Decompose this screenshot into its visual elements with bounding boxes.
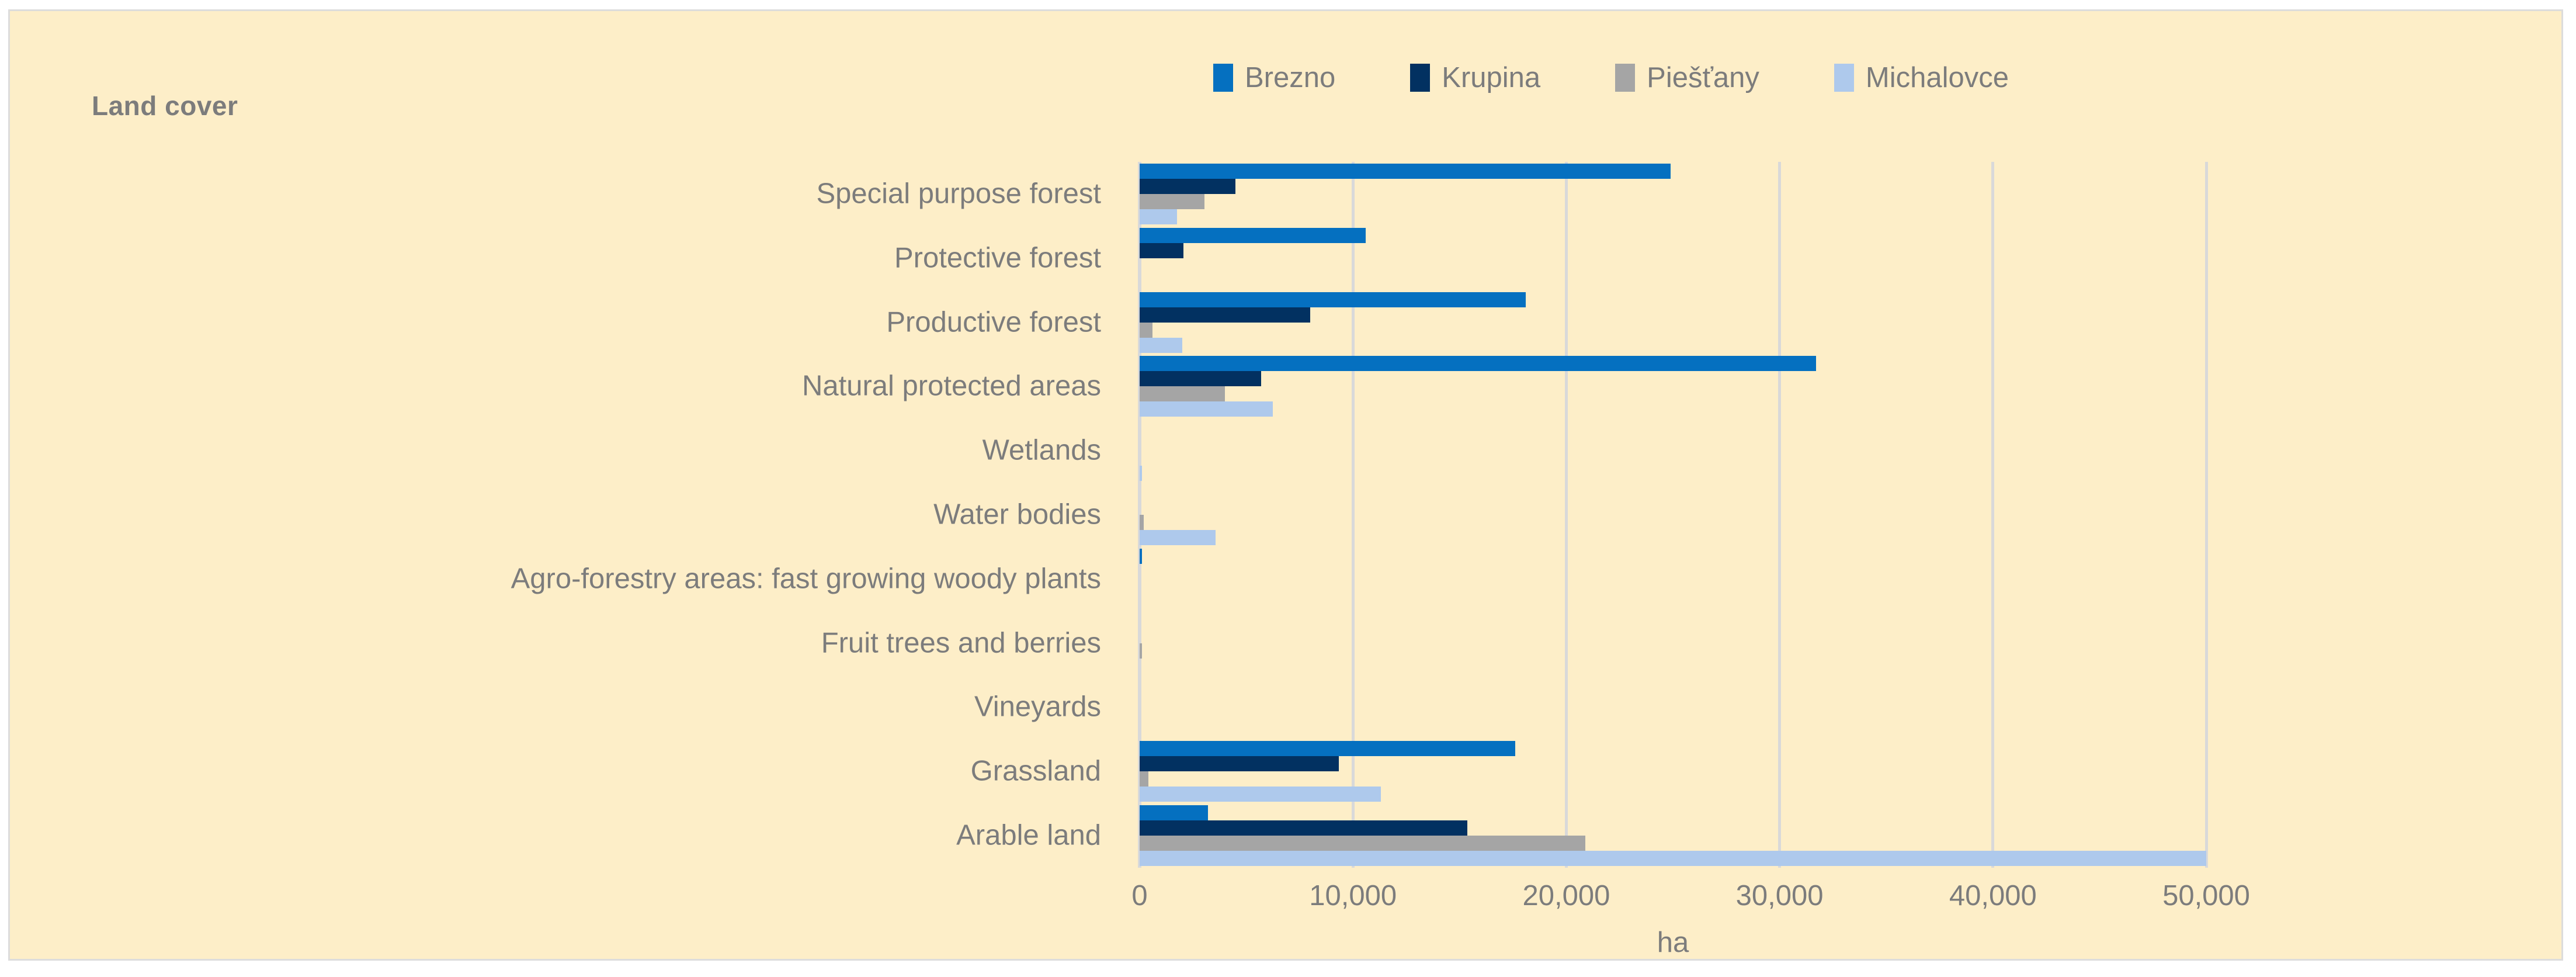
xtick-label-10000: 10,000 (1309, 882, 1397, 910)
bar-krupina-1[interactable] (1140, 243, 1183, 258)
bar-krupina-9[interactable] (1140, 756, 1339, 771)
xtick-label-40000: 40,000 (1949, 882, 2037, 910)
bar-group-5 (1140, 483, 2206, 547)
chart-title: Land cover (92, 90, 238, 122)
bar-krupina-0[interactable] (1140, 179, 1235, 194)
bar-group-3 (1140, 354, 2206, 418)
bar-group-7 (1140, 611, 2206, 675)
bar-michalovce-2[interactable] (1140, 338, 1182, 353)
bar-brezno-9[interactable] (1140, 741, 1515, 756)
bar-brezno-6[interactable] (1140, 549, 1142, 564)
category-label-4: Wetlands (983, 436, 1101, 465)
xtick-label-20000: 20,000 (1522, 882, 1610, 910)
legend-label-piešťany: Piešťany (1647, 64, 1759, 92)
value-axis-title: ha (1657, 929, 1689, 957)
bar-michalovce-4[interactable] (1140, 466, 1142, 481)
bar-group-8 (1140, 675, 2206, 740)
legend-label-krupina: Krupina (1442, 64, 1540, 92)
category-label-8: Vineyards (974, 693, 1101, 722)
legend-label-michalovce: Michalovce (1866, 64, 2009, 92)
bar-brezno-0[interactable] (1140, 164, 1671, 179)
bar-krupina-3[interactable] (1140, 371, 1261, 386)
bar-group-9 (1140, 739, 2206, 803)
bar-krupina-10[interactable] (1140, 820, 1467, 836)
value-axis-tick-labels: 010,00020,00030,00040,00050,000 (1140, 882, 2206, 917)
category-label-6: Agro-forestry areas: fast growing woody … (511, 564, 1101, 593)
category-label-7: Fruit trees and berries (821, 629, 1101, 657)
category-label-3: Natural protected areas (802, 372, 1101, 401)
legend-item-brezno[interactable]: Brezno (1213, 64, 1335, 92)
bar-piešťany-3[interactable] (1140, 386, 1225, 401)
category-label-5: Water bodies (933, 501, 1101, 529)
category-label-10: Arable land (956, 822, 1101, 850)
category-label-1: Protective forest (894, 244, 1101, 272)
bar-brezno-2[interactable] (1140, 292, 1526, 307)
bar-group-6 (1140, 547, 2206, 611)
legend-item-michalovce[interactable]: Michalovce (1834, 64, 2009, 92)
bar-brezno-1[interactable] (1140, 228, 1366, 243)
bar-group-2 (1140, 290, 2206, 355)
bar-piešťany-9[interactable] (1140, 771, 1148, 787)
bar-piešťany-2[interactable] (1140, 323, 1152, 338)
bar-piešťany-7[interactable] (1140, 643, 1142, 659)
legend-label-brezno: Brezno (1245, 64, 1335, 92)
legend-swatch-piestany (1615, 64, 1635, 92)
chart-frame: Land cover BreznoKrupinaPiešťanyMichalov… (8, 9, 2563, 961)
bar-piešťany-0[interactable] (1140, 194, 1204, 209)
bar-krupina-2[interactable] (1140, 307, 1310, 323)
legend-swatch-michalovce (1834, 64, 1854, 92)
xtick-label-30000: 30,000 (1736, 882, 1824, 910)
legend-item-piešťany[interactable]: Piešťany (1615, 64, 1759, 92)
bar-group-4 (1140, 418, 2206, 483)
bar-group-0 (1140, 162, 2206, 226)
legend-item-krupina[interactable]: Krupina (1410, 64, 1540, 92)
bar-group-1 (1140, 226, 2206, 290)
bar-group-10 (1140, 803, 2206, 868)
category-axis-labels: Special purpose forestProtective forestP… (127, 162, 1120, 868)
legend-swatch-brezno (1213, 64, 1233, 92)
bar-michalovce-10[interactable] (1140, 851, 2206, 866)
xtick-label-50000: 50,000 (2162, 882, 2250, 910)
bar-piešťany-5[interactable] (1140, 515, 1144, 530)
bar-michalovce-3[interactable] (1140, 401, 1273, 417)
bar-piešťany-10[interactable] (1140, 836, 1585, 851)
bar-michalovce-9[interactable] (1140, 787, 1381, 802)
category-label-9: Grassland (971, 757, 1101, 786)
legend-swatch-krupina (1410, 64, 1430, 92)
bar-brezno-3[interactable] (1140, 356, 1816, 371)
bar-brezno-10[interactable] (1140, 805, 1208, 820)
bar-michalovce-0[interactable] (1140, 209, 1177, 224)
chart-legend: BreznoKrupinaPiešťanyMichalovce (1213, 59, 2009, 96)
category-label-2: Productive forest (886, 308, 1101, 337)
bar-michalovce-5[interactable] (1140, 530, 1216, 545)
xtick-label-0: 0 (1131, 882, 1147, 910)
plot-area (1140, 162, 2206, 868)
category-label-0: Special purpose forest (816, 179, 1101, 208)
